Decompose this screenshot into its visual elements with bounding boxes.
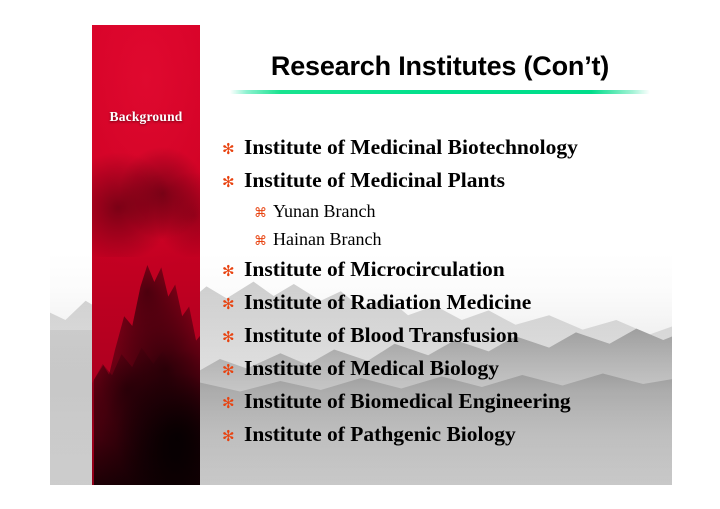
list-item-label: Institute of Pathgenic Biology xyxy=(244,421,516,449)
bullet-flower-icon: ✻ xyxy=(222,265,244,280)
list-item: ✻Institute of Medicinal Plants xyxy=(222,167,672,198)
list-item-label: Hainan Branch xyxy=(273,228,381,251)
bullet-flower-icon: ✻ xyxy=(222,397,244,412)
bullet-flower-icon: ✻ xyxy=(222,176,244,191)
list-item-label: Institute of Medicinal Biotechnology xyxy=(244,134,578,162)
sidebar-cloud-texture xyxy=(92,147,200,257)
list-item: ⌘Yunan Branch xyxy=(222,200,672,226)
section-sidebar-panel: Background xyxy=(92,25,200,485)
list-item: ✻Institute of Pathgenic Biology xyxy=(222,421,672,452)
bullet-flower-icon: ✻ xyxy=(222,298,244,313)
list-item-label: Institute of Microcirculation xyxy=(244,256,505,284)
page-title: Research Institutes (Con’t) xyxy=(230,52,650,80)
bullet-loop-icon: ⌘ xyxy=(254,234,273,247)
list-item: ⌘Hainan Branch xyxy=(222,228,672,254)
list-item: ✻Institute of Radiation Medicine xyxy=(222,289,672,320)
bullet-flower-icon: ✻ xyxy=(222,331,244,346)
slide-canvas: Background Research Institutes (Con’t) ✻… xyxy=(50,2,672,485)
list-item: ✻Institute of Medical Biology xyxy=(222,355,672,386)
list-item-label: Institute of Biomedical Engineering xyxy=(244,388,571,416)
title-block: Research Institutes (Con’t) xyxy=(230,52,650,94)
list-item-label: Institute of Blood Transfusion xyxy=(244,322,519,350)
list-item-label: Institute of Medicinal Plants xyxy=(244,167,505,195)
list-item: ✻Institute of Medicinal Biotechnology xyxy=(222,134,672,165)
bullet-list: ✻Institute of Medicinal Biotechnology✻In… xyxy=(222,134,672,454)
presentation-slide: Background Research Institutes (Con’t) ✻… xyxy=(0,0,720,509)
list-item-label: Institute of Radiation Medicine xyxy=(244,289,531,317)
section-label: Background xyxy=(92,109,200,125)
list-item: ✻Institute of Biomedical Engineering xyxy=(222,388,672,419)
list-item: ✻Institute of Blood Transfusion xyxy=(222,322,672,353)
bullet-flower-icon: ✻ xyxy=(222,143,244,158)
bullet-flower-icon: ✻ xyxy=(222,430,244,445)
list-item: ✻Institute of Microcirculation xyxy=(222,256,672,287)
list-item-label: Yunan Branch xyxy=(273,200,375,223)
bullet-loop-icon: ⌘ xyxy=(254,206,273,219)
bullet-flower-icon: ✻ xyxy=(222,364,244,379)
title-underline-rule xyxy=(230,90,650,94)
list-item-label: Institute of Medical Biology xyxy=(244,355,499,383)
